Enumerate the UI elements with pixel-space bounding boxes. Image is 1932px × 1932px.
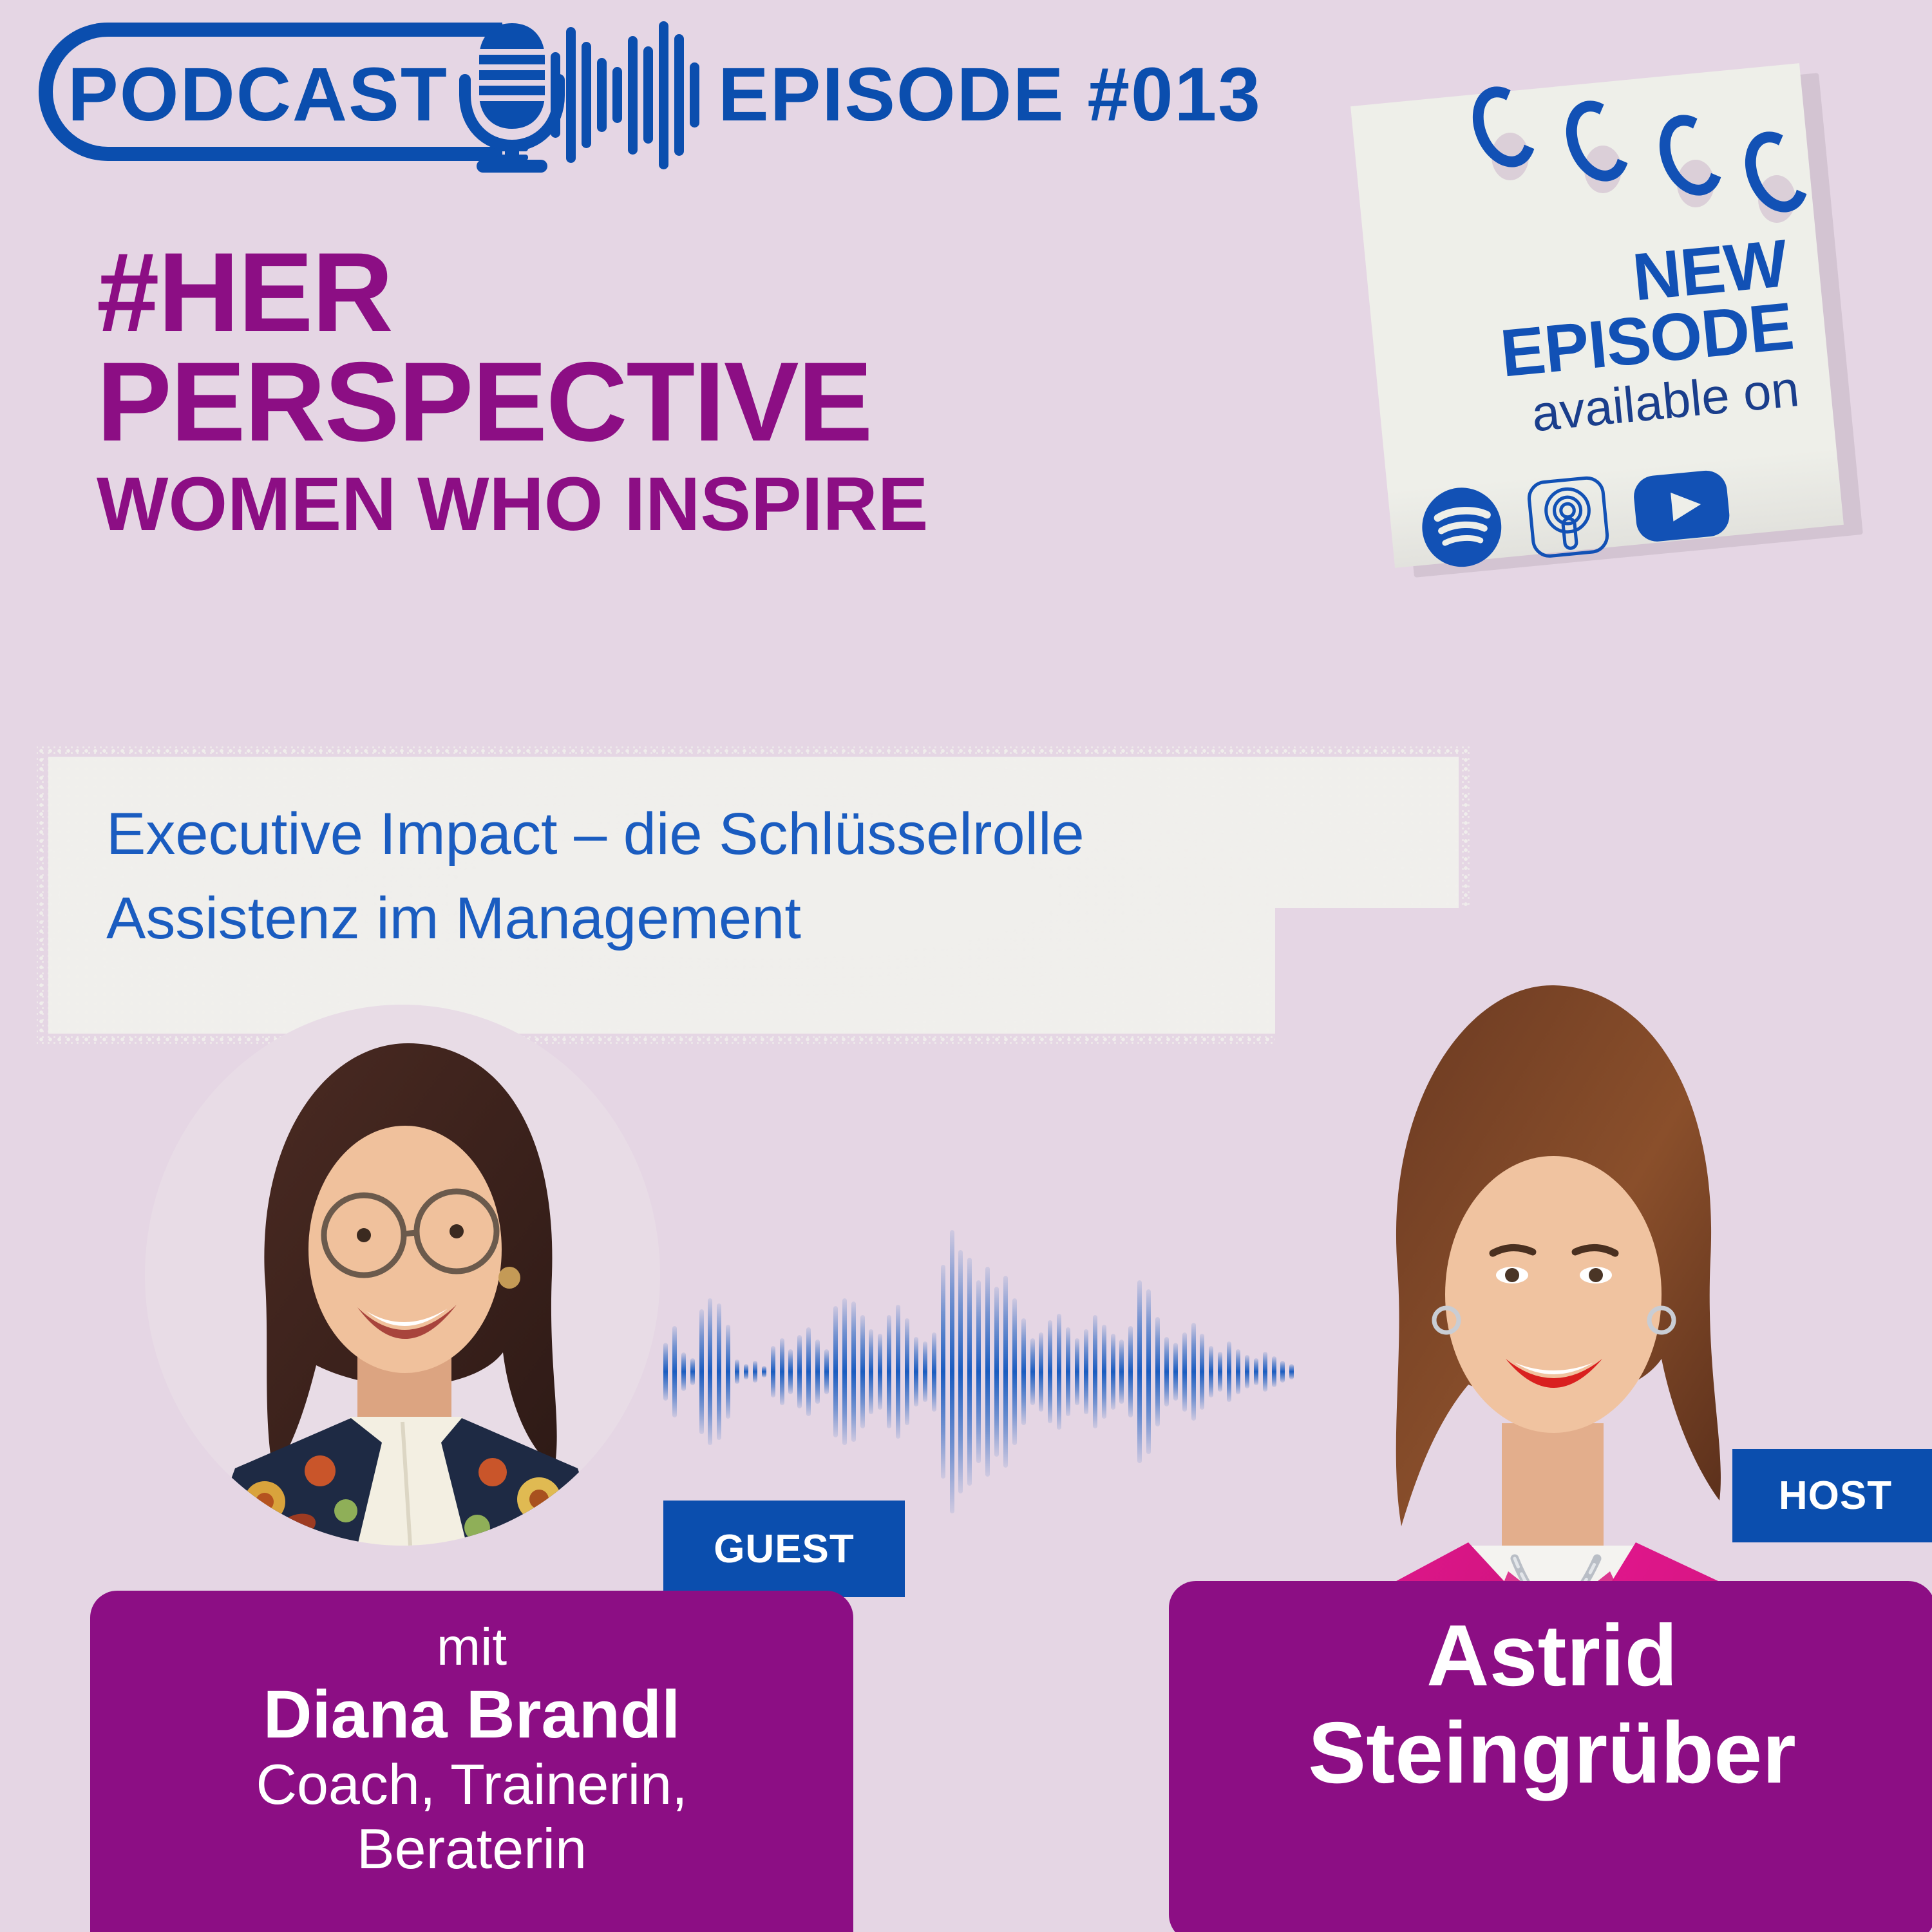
brand-line-perspective: PERSPECTIVE bbox=[97, 348, 1320, 457]
waveform-bar bbox=[1263, 1352, 1267, 1392]
waveform-bar bbox=[1209, 1346, 1213, 1397]
waveform-bar bbox=[1254, 1358, 1258, 1386]
soundwave-bar bbox=[690, 62, 699, 128]
waveform-bar bbox=[1146, 1289, 1151, 1454]
soundwave-bar bbox=[597, 58, 607, 132]
waveform-bar bbox=[762, 1366, 766, 1378]
soundwave-bar bbox=[582, 42, 591, 149]
podcast-cover-canvas: PODCAST EPISODE #013 # bbox=[0, 0, 1932, 1932]
waveform-bar bbox=[797, 1335, 802, 1408]
host-name-card: Astrid Steingrüber bbox=[1169, 1581, 1932, 1932]
guest-name-card: mit Diana Brandl Coach, Trainerin, Berat… bbox=[90, 1591, 853, 1932]
waveform-bar bbox=[1057, 1314, 1061, 1430]
waveform-bar bbox=[1021, 1318, 1026, 1425]
soundwave-icon bbox=[551, 19, 712, 171]
waveform-bar bbox=[726, 1325, 730, 1419]
waveform-bar bbox=[744, 1364, 748, 1379]
waveform-bar bbox=[1066, 1327, 1070, 1416]
waveform-bar bbox=[1102, 1325, 1106, 1419]
waveform-bar bbox=[681, 1352, 686, 1390]
spotify-icon[interactable] bbox=[1417, 482, 1507, 575]
guest-prefix: mit bbox=[122, 1618, 821, 1677]
waveform-bar bbox=[878, 1334, 882, 1410]
waveform-bar bbox=[735, 1359, 739, 1384]
waveform-bar bbox=[896, 1305, 900, 1439]
guest-role-line-1: Coach, Trainerin, bbox=[122, 1752, 821, 1816]
episode-number-label: EPISODE #013 bbox=[718, 57, 1262, 133]
guest-role-line-2: Beraterin bbox=[122, 1817, 821, 1880]
waveform-bar bbox=[860, 1315, 865, 1428]
waveform-bar bbox=[994, 1287, 999, 1457]
waveform-bar bbox=[1039, 1332, 1043, 1412]
brand-title: #HER PERSPECTIVE WOMEN WHO INSPIRE bbox=[97, 238, 1320, 544]
waveform-bar bbox=[1003, 1276, 1008, 1468]
episode-title-line-1: Executive Impact – die Schlüsselrolle bbox=[106, 792, 1433, 876]
waveform-bar bbox=[672, 1326, 677, 1417]
waveform-bar bbox=[788, 1349, 793, 1395]
waveform-bar bbox=[780, 1338, 784, 1405]
waveform-bar bbox=[887, 1315, 891, 1428]
apple-podcasts-icon[interactable] bbox=[1523, 471, 1613, 565]
waveform-bar bbox=[1048, 1320, 1052, 1424]
waveform-bar bbox=[1280, 1361, 1285, 1382]
waveform-bar bbox=[1236, 1349, 1240, 1395]
waveform-bar bbox=[1075, 1338, 1079, 1405]
waveform-bar bbox=[815, 1340, 820, 1403]
host-name-line-2: Steingrüber bbox=[1195, 1704, 1909, 1801]
waveform-bar bbox=[833, 1306, 838, 1437]
waveform-bar bbox=[753, 1361, 757, 1382]
podcast-label: PODCAST bbox=[68, 57, 448, 133]
youtube-icon[interactable] bbox=[1630, 466, 1733, 549]
waveform-bar bbox=[1289, 1364, 1294, 1379]
waveform-bar bbox=[869, 1329, 873, 1414]
brand-line-her: #HER bbox=[97, 238, 1320, 348]
waveform-bar bbox=[941, 1265, 945, 1478]
waveform-bar bbox=[1164, 1337, 1169, 1407]
waveform-bar bbox=[1030, 1338, 1035, 1405]
waveform-bar bbox=[1218, 1352, 1222, 1392]
soundwave-bar bbox=[659, 21, 668, 169]
waveform-bar bbox=[950, 1230, 954, 1513]
waveform-bar bbox=[985, 1267, 990, 1477]
waveform-bar bbox=[771, 1346, 775, 1397]
waveform-bar bbox=[851, 1302, 856, 1442]
episode-title-band: Executive Impact – die Schlüsselrolle As… bbox=[48, 757, 1459, 1034]
waveform-bar bbox=[824, 1349, 829, 1395]
waveform-bar bbox=[1137, 1280, 1142, 1463]
soundwave-bar bbox=[566, 27, 576, 164]
host-name-line-1: Astrid bbox=[1195, 1607, 1909, 1704]
guest-portrait bbox=[145, 1005, 660, 1546]
waveform-bar bbox=[663, 1343, 668, 1401]
waveform-bar bbox=[932, 1332, 936, 1412]
waveform-bar bbox=[967, 1258, 972, 1486]
waveform-bar bbox=[806, 1327, 811, 1416]
guest-badge: GUEST bbox=[663, 1501, 905, 1597]
waveform-bar bbox=[1093, 1315, 1097, 1428]
waveform-bar bbox=[1155, 1317, 1160, 1426]
waveform-bar bbox=[1128, 1326, 1133, 1417]
waveform-bar bbox=[690, 1358, 695, 1386]
brand-tagline: WOMEN WHO INSPIRE bbox=[97, 465, 1320, 545]
waveform-bar bbox=[1272, 1356, 1276, 1387]
guest-badge-label: GUEST bbox=[714, 1526, 855, 1572]
episode-title-line-2: Assistenz im Management bbox=[106, 876, 1433, 961]
soundwave-bar bbox=[674, 34, 684, 156]
new-episode-notepad: NEW EPISODE available on bbox=[1372, 58, 1861, 586]
soundwave-bar bbox=[643, 46, 653, 144]
waveform-bar bbox=[717, 1303, 721, 1441]
waveform-bar bbox=[1111, 1334, 1115, 1410]
waveform-bar bbox=[958, 1250, 963, 1493]
waveform-bar bbox=[905, 1318, 909, 1425]
soundwave-bar bbox=[612, 67, 622, 123]
waveform-bar bbox=[1084, 1329, 1088, 1414]
waveform-bar bbox=[1012, 1298, 1017, 1444]
waveform-bar bbox=[842, 1298, 847, 1444]
waveform-bar bbox=[1191, 1323, 1196, 1420]
waveform-bar bbox=[976, 1280, 981, 1463]
host-badge: HOST bbox=[1732, 1449, 1932, 1542]
waveform-bar bbox=[1227, 1341, 1231, 1403]
soundwave-bar bbox=[551, 52, 560, 138]
waveform-bar bbox=[1182, 1332, 1187, 1412]
notepad-text-block: NEW EPISODE available on bbox=[1399, 233, 1802, 453]
waveform-bar bbox=[923, 1341, 927, 1403]
guest-name: Diana Brandl bbox=[122, 1677, 821, 1753]
waveform-bar bbox=[1200, 1334, 1204, 1410]
soundwave-bar bbox=[628, 36, 638, 155]
host-badge-label: HOST bbox=[1779, 1473, 1892, 1519]
waveform-bar bbox=[914, 1337, 918, 1407]
waveform-bar bbox=[1173, 1343, 1178, 1401]
audio-waveform-icon bbox=[663, 1224, 1294, 1520]
waveform-bar bbox=[1119, 1340, 1124, 1403]
waveform-bar bbox=[708, 1298, 712, 1444]
waveform-bar bbox=[1245, 1355, 1249, 1388]
episode-title: Executive Impact – die Schlüsselrolle As… bbox=[106, 792, 1433, 960]
waveform-bar bbox=[699, 1309, 704, 1434]
